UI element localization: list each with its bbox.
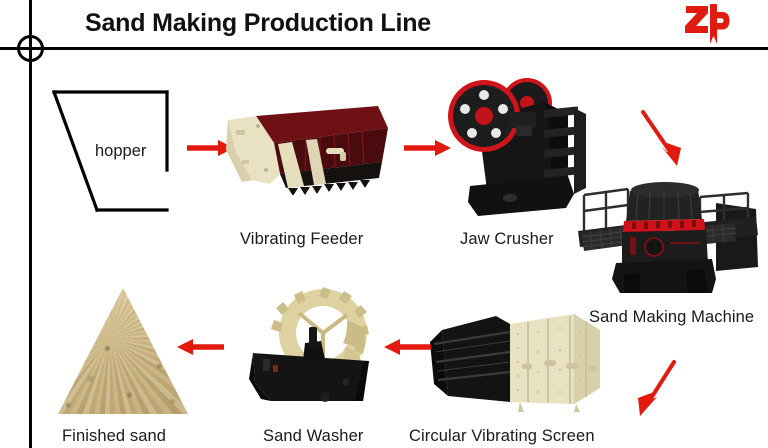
flow-arrow-crusher-to-sand-maker bbox=[636, 106, 696, 177]
flow-arrow-feeder-to-crusher bbox=[404, 138, 452, 163]
crosshair-registration-icon bbox=[17, 35, 44, 62]
flow-arrow-screen-to-washer bbox=[383, 337, 431, 362]
header-divider-line bbox=[0, 47, 768, 50]
production-line-diagram: Sand Making Production Line hopper bbox=[0, 0, 768, 448]
finished-sand-label: Finished sand bbox=[62, 427, 166, 446]
sand-pile-shape bbox=[58, 288, 188, 414]
vibrating-feeder-label: Vibrating Feeder bbox=[240, 230, 363, 249]
page-title: Sand Making Production Line bbox=[85, 9, 431, 38]
flow-arrow-sand-maker-to-screen bbox=[626, 356, 686, 427]
hopper-label: hopper bbox=[95, 142, 146, 161]
sand-making-machine-image bbox=[566, 175, 762, 295]
finished-sand-image bbox=[58, 288, 188, 414]
vibrating-feeder-image bbox=[222, 100, 392, 195]
sand-washer-label: Sand Washer bbox=[263, 427, 363, 446]
sand-making-machine-label: Sand Making Machine bbox=[589, 308, 754, 327]
circular-vibrating-screen-label: Circular Vibrating Screen bbox=[409, 427, 595, 446]
brand-logo-icon bbox=[683, 2, 731, 46]
jaw-crusher-label: Jaw Crusher bbox=[460, 230, 554, 249]
circular-vibrating-screen-image bbox=[424, 308, 604, 413]
sand-washer-image bbox=[247, 283, 384, 408]
